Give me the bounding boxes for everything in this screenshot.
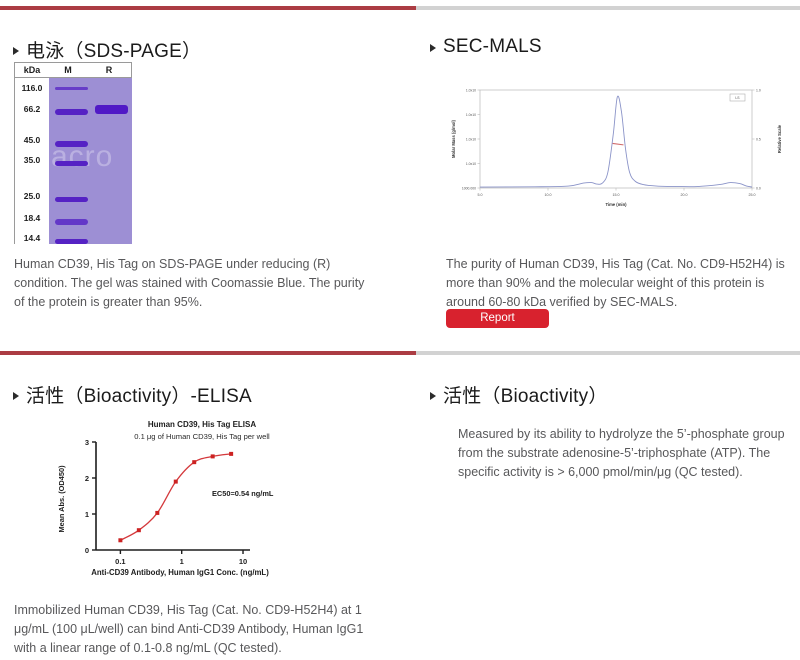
svg-text:10.0: 10.0 (545, 193, 552, 197)
svg-text:0: 0 (85, 546, 89, 555)
caption-bioactivity: Measured by its ability to hydrolyze the… (458, 425, 788, 482)
svg-text:Molar Mass (g/mol): Molar Mass (g/mol) (451, 119, 456, 158)
gel-header-marker: M (49, 65, 87, 75)
report-button[interactable]: Report (446, 309, 549, 328)
ladder-band (55, 109, 88, 115)
svg-text:Relative Scale: Relative Scale (777, 124, 782, 153)
ladder-label: 14.4 (15, 233, 49, 243)
svg-text:Mean Abs. (OD450): Mean Abs. (OD450) (57, 465, 66, 533)
svg-text:0.1: 0.1 (115, 557, 125, 566)
section-heading-sec-mals: SEC-MALS (430, 36, 542, 58)
triangle-bullet-icon (430, 392, 436, 400)
gel-lanes: acro (49, 78, 132, 244)
ladder-band (55, 239, 88, 244)
svg-text:1.0x10: 1.0x10 (466, 88, 476, 92)
ladder-label: 18.4 (15, 213, 49, 223)
svg-text:Human CD39, His Tag ELISA: Human CD39, His Tag ELISA (148, 420, 257, 429)
elisa-svg: Human CD39, His Tag ELISA 0.1 μg of Huma… (40, 415, 370, 590)
ladder-band (55, 219, 88, 225)
svg-text:25.0: 25.0 (749, 193, 756, 197)
svg-text:LS: LS (735, 96, 740, 100)
svg-text:1.0x10: 1.0x10 (466, 162, 476, 166)
gel-header-kda: kDa (15, 65, 49, 75)
triangle-bullet-icon (13, 47, 19, 55)
svg-text:2: 2 (85, 474, 89, 483)
data-point (192, 460, 196, 464)
svg-text:0.5: 0.5 (756, 137, 761, 141)
svg-text:0.1 μg of Human CD39, His Tag: 0.1 μg of Human CD39, His Tag per well (134, 432, 270, 441)
data-point (174, 480, 178, 484)
caption-sds-page: Human CD39, His Tag on SDS-PAGE under re… (14, 255, 374, 312)
svg-text:20.0: 20.0 (681, 193, 688, 197)
gel-column-headers: kDa M R (15, 63, 131, 78)
data-point (137, 528, 141, 532)
svg-text:1.0: 1.0 (756, 88, 761, 92)
svg-text:1.0x10: 1.0x10 (466, 137, 476, 141)
svg-text:10: 10 (239, 557, 247, 566)
svg-text:1: 1 (85, 510, 89, 519)
section-heading-bioactivity: 活性（Bioactivity） (430, 381, 608, 408)
triangle-bullet-icon (430, 44, 436, 52)
ladder-band (55, 87, 88, 90)
triangle-bullet-icon (13, 392, 19, 400)
elisa-binding-chart: Human CD39, His Tag ELISA 0.1 μg of Huma… (40, 415, 370, 590)
section-heading-sds-page: 电泳（SDS-PAGE） (13, 36, 201, 63)
gel-ladder-labels: 116.066.245.035.025.018.414.4 (15, 78, 49, 244)
section-heading-text: SEC-MALS (443, 36, 542, 58)
divider-accent-segment (0, 6, 416, 10)
divider-accent-segment (0, 351, 416, 355)
sec-mals-chart: 1.0x101.0x101.0x101.0x101000.000 1.00.50… (444, 84, 791, 212)
svg-text:Time (min): Time (min) (605, 202, 627, 207)
product-validation-page: 电泳（SDS-PAGE） kDa M R 116.066.245.035.025… (0, 0, 800, 660)
ladder-label: 116.0 (15, 83, 49, 93)
svg-text:3: 3 (85, 438, 89, 447)
ladder-band (55, 197, 88, 202)
caption-elisa: Immobilized Human CD39, His Tag (Cat. No… (14, 601, 386, 658)
divider-middle (0, 351, 800, 355)
svg-text:1: 1 (180, 557, 184, 566)
sec-mals-legend: LS (730, 94, 745, 101)
ladder-band (55, 141, 88, 147)
sample-band (95, 105, 128, 114)
svg-text:1.0x10: 1.0x10 (466, 113, 476, 117)
ladder-label: 45.0 (15, 135, 49, 145)
ladder-label: 35.0 (15, 155, 49, 165)
data-point (211, 454, 215, 458)
section-heading-text: 活性（Bioactivity）-ELISA (26, 381, 252, 408)
svg-text:EC50=0.54 ng/mL: EC50=0.54 ng/mL (212, 489, 274, 498)
svg-text:0.0: 0.0 (756, 186, 761, 190)
svg-text:Anti-CD39 Antibody, Human IgG1: Anti-CD39 Antibody, Human IgG1 Conc. (ng… (91, 568, 269, 577)
svg-text:1000.000: 1000.000 (462, 186, 476, 190)
section-heading-text: 电泳（SDS-PAGE） (26, 36, 201, 63)
data-point (118, 538, 122, 542)
section-heading-text: 活性（Bioactivity） (443, 381, 608, 408)
ladder-band (55, 161, 88, 166)
sec-mals-svg: 1.0x101.0x101.0x101.0x101000.000 1.00.50… (444, 84, 791, 212)
data-point (155, 511, 159, 515)
svg-text:5.0: 5.0 (478, 193, 483, 197)
caption-sec-mals: The purity of Human CD39, His Tag (Cat. … (446, 255, 794, 312)
ladder-label: 25.0 (15, 191, 49, 201)
divider-top (0, 6, 800, 10)
gel-header-reduced: R (87, 65, 131, 75)
svg-text:15.0: 15.0 (613, 193, 620, 197)
data-point (229, 452, 233, 456)
ladder-label: 66.2 (15, 104, 49, 114)
sds-page-gel-image: kDa M R 116.066.245.035.025.018.414.4 ac… (14, 62, 132, 244)
section-heading-bioactivity-elisa: 活性（Bioactivity）-ELISA (13, 381, 252, 408)
